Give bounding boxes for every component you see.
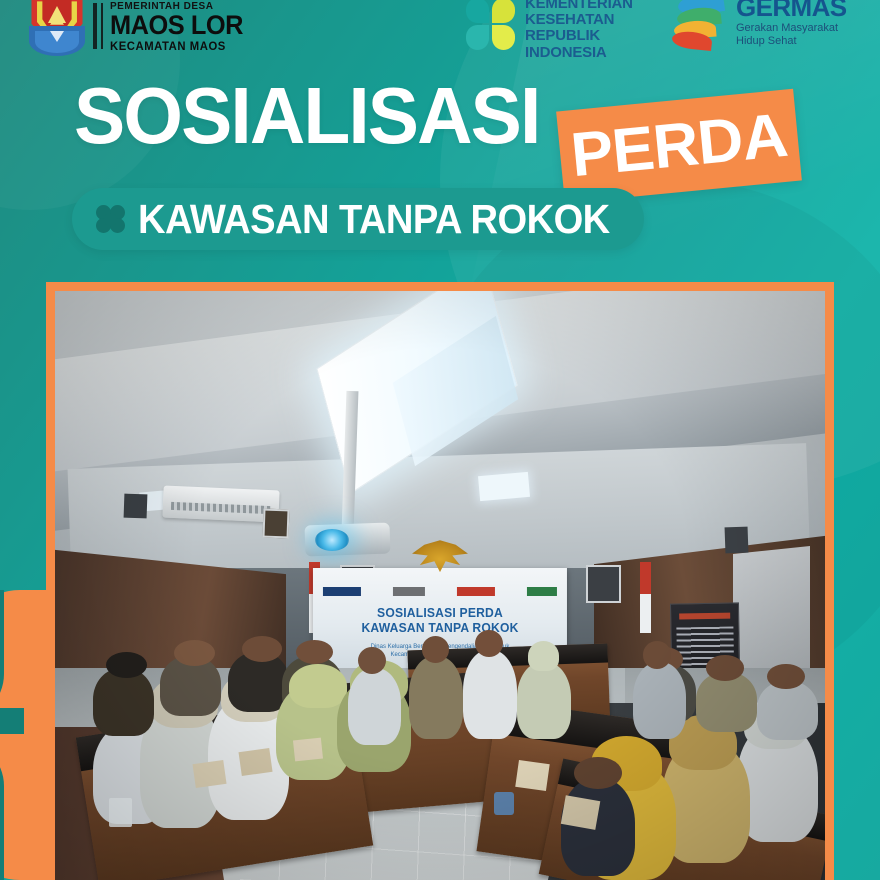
- poster-subtitle: KAWASAN TANPA ROKOK: [138, 199, 610, 240]
- sponsor-logo-3: [526, 587, 556, 596]
- ceiling-light-panel-right: [478, 471, 530, 500]
- wall-frame-left: [262, 508, 289, 538]
- germas-subtitle-line-2: Hidup Sehat: [736, 35, 847, 48]
- banner-title: SOSIALISASI PERDA KAWASAN TANPA ROKOK: [317, 606, 563, 636]
- clover-flower-icon: [96, 204, 126, 234]
- event-photo: SOSIALISASI PERDA KAWASAN TANPA ROKOK Di…: [55, 291, 825, 880]
- poster-subtitle-pill: KAWASAN TANPA ROKOK: [72, 188, 644, 250]
- village-name: MAOS LOR: [110, 13, 243, 39]
- kemenkes-line-4: INDONESIA: [525, 45, 633, 61]
- perda-badge-label: PERDA: [568, 105, 789, 187]
- wall-speaker-right-icon: [724, 526, 748, 553]
- indonesian-flag-right-icon: [640, 562, 651, 633]
- sponsor-logo-2: [457, 587, 494, 596]
- banner-sponsor-logos: [323, 581, 557, 602]
- germas-subtitle-line-1: Gerakan Masyarakat: [736, 22, 847, 35]
- logo-divider-thin: [101, 3, 103, 49]
- village-district: KECAMATAN MAOS: [110, 40, 243, 52]
- banner-title-line-1: SOSIALISASI PERDA: [317, 606, 563, 621]
- wall-speaker-left-icon: [124, 494, 148, 518]
- kemenkes-logo: KEMENTERIAN KESEHATAN REPUBLIK INDONESIA: [465, 0, 633, 61]
- germas-logo: GERMAS Gerakan Masyarakat Hidup Sehat: [670, 0, 847, 56]
- germas-title: GERMAS: [736, 0, 847, 20]
- germas-swoosh-icon: [670, 0, 730, 56]
- central-java-regional-emblem-icon: [28, 0, 86, 54]
- sponsor-logo-0: [323, 587, 360, 596]
- event-photo-frame: SOSIALISASI PERDA KAWASAN TANPA ROKOK Di…: [46, 282, 834, 880]
- kemenkes-line-2: KESEHATAN: [525, 12, 633, 28]
- kemenkes-line-3: REPUBLIK: [525, 28, 633, 44]
- poster-title: SOSIALISASI: [74, 76, 539, 156]
- village-logo: PEMERINTAH DESA MAOS LOR KECAMATAN MAOS: [28, 0, 252, 54]
- poster-header: PEMERINTAH DESA MAOS LOR KECAMATAN MAOS …: [0, 0, 880, 62]
- kemenkes-pinwheel-icon: [465, 0, 517, 52]
- framed-portrait-right: [586, 565, 621, 603]
- logo-divider: [93, 3, 97, 49]
- sponsor-logo-1: [392, 587, 425, 596]
- banner-title-line-2: KAWASAN TANPA ROKOK: [317, 621, 563, 636]
